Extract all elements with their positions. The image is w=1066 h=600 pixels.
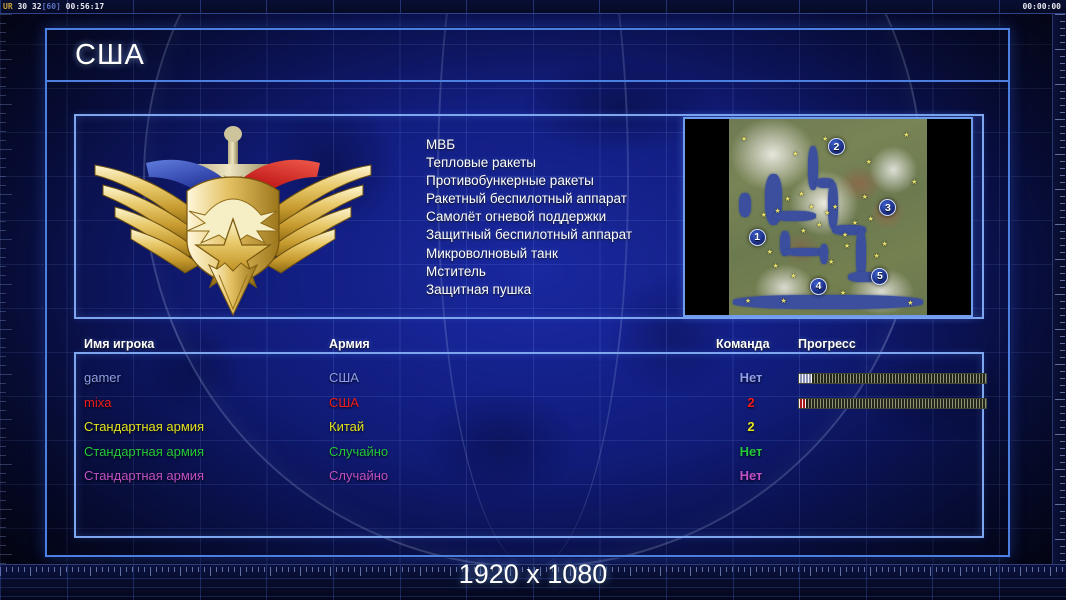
- ruler-tick: [0, 14, 12, 15]
- ruler-tick: [1060, 308, 1065, 309]
- main-frame: США: [45, 28, 1010, 557]
- ruler-tick: [0, 374, 12, 375]
- ruler-tick: [0, 95, 6, 96]
- ruler-tick: [0, 284, 12, 285]
- ruler-tick: [1060, 210, 1065, 211]
- hud-timer: 00:00:00: [1022, 1, 1061, 13]
- hud-performance-readout: UR 30 32[60] 00:56:17: [3, 1, 104, 13]
- minimap-resource-icon: ★: [907, 301, 913, 307]
- ruler-tick: [1060, 56, 1065, 57]
- ruler-tick: [0, 392, 6, 393]
- ruler-tick: [0, 347, 6, 348]
- minimap-resource-icon: ★: [800, 229, 806, 235]
- minimap-resource-icon: ★: [741, 137, 747, 143]
- minimap-resource-icon: ★: [874, 254, 880, 260]
- ruler-gridline: [932, 0, 933, 13]
- unit-list-item: Мститель: [426, 263, 632, 281]
- ruler-tick: [0, 320, 6, 321]
- ruler-tick: [0, 338, 6, 339]
- ruler-tick: [0, 176, 6, 177]
- ruler-tick: [1060, 28, 1065, 29]
- ruler-tick: [1060, 231, 1065, 232]
- ruler-tick: [1055, 259, 1065, 260]
- ruler-tick: [0, 365, 6, 366]
- progress-bar-track: [799, 399, 986, 408]
- ruler-gridline: [533, 0, 534, 13]
- minimap-start-position-5[interactable]: 5: [871, 268, 888, 285]
- ruler-tick: [0, 446, 6, 447]
- ruler-tick: [1060, 91, 1065, 92]
- ruler-tick: [1055, 189, 1065, 190]
- ruler-tick: [1060, 420, 1065, 421]
- ruler-tick: [0, 131, 6, 132]
- column-header-player-name: Имя игрока: [84, 337, 154, 351]
- progress-bar: [798, 373, 987, 384]
- minimap-start-position-3[interactable]: 3: [879, 199, 896, 216]
- ruler-tick: [0, 167, 6, 168]
- ruler-tick: [1060, 497, 1065, 498]
- ruler-tick: [0, 500, 6, 501]
- ruler-gridline: [999, 0, 1000, 13]
- player-team[interactable]: Нет: [716, 370, 786, 385]
- ruler-tick: [0, 302, 6, 303]
- minimap-resource-icon: ★: [792, 152, 798, 158]
- faction-info-panel: МВБТепловые ракетыПротивобункерные ракет…: [74, 114, 984, 319]
- ruler-tick: [0, 329, 12, 330]
- ruler-tick: [1060, 175, 1065, 176]
- ruler-tick: [1060, 140, 1065, 141]
- table-row[interactable]: Стандартная армияСлучайноНет: [76, 468, 982, 493]
- player-team[interactable]: Нет: [716, 444, 786, 459]
- ruler-tick: [1060, 490, 1065, 491]
- ruler-tick: [1060, 168, 1065, 169]
- unit-list-item: Микроволновый танк: [426, 245, 632, 263]
- ruler-tick: [0, 212, 6, 213]
- minimap-resource-icon: ★: [862, 195, 868, 201]
- ruler-tick: [0, 383, 6, 384]
- ruler-tick: [0, 464, 12, 465]
- ruler-tick: [0, 122, 6, 123]
- progress-bar-fill: [799, 374, 812, 383]
- ruler-gridline: [266, 0, 267, 13]
- ruler-tick: [0, 491, 6, 492]
- minimap-resource-icon: ★: [798, 192, 804, 198]
- ruler-tick: [1060, 357, 1065, 358]
- ruler-tick: [0, 68, 6, 69]
- ruler-tick: [1060, 98, 1065, 99]
- ruler-tick: [1060, 532, 1065, 533]
- ruler-tick: [1060, 238, 1065, 239]
- ruler-tick: [0, 50, 6, 51]
- resolution-overlay: 1920 x 1080: [0, 559, 1066, 590]
- ruler-tick: [1055, 224, 1065, 225]
- player-progress: [798, 373, 987, 384]
- ruler-tick: [1060, 343, 1065, 344]
- minimap-start-position-2[interactable]: 2: [828, 138, 845, 155]
- page-title: США: [75, 39, 145, 72]
- ruler-tick: [0, 239, 12, 240]
- unit-list-item: Ракетный беспилотный аппарат: [426, 190, 632, 208]
- minimap-resource-icon: ★: [816, 223, 822, 229]
- ruler-tick: [1055, 434, 1065, 435]
- minimap[interactable]: ★★★★★★★★★★★★★★★★★★★★★★★★★★★★★★12345: [683, 117, 973, 317]
- ruler-tick: [0, 437, 6, 438]
- unit-list-item: Самолёт огневой поддержки: [426, 208, 632, 226]
- ruler-top: [0, 0, 1066, 14]
- ruler-tick: [1060, 217, 1065, 218]
- ruler-tick: [1060, 273, 1065, 274]
- player-army[interactable]: Случайно: [329, 444, 388, 459]
- ruler-tick: [1060, 266, 1065, 267]
- ruler-tick: [1060, 42, 1065, 43]
- ruler-tick: [0, 410, 6, 411]
- ruler-tick: [1060, 427, 1065, 428]
- player-name[interactable]: Стандартная армия: [84, 444, 204, 459]
- ruler-tick: [0, 140, 6, 141]
- minimap-resource-icon: ★: [790, 274, 796, 280]
- ruler-tick: [1060, 70, 1065, 71]
- player-list-panel: Имя игрока Армия Команда Прогресс gamerС…: [74, 352, 984, 538]
- minimap-resource-icon: ★: [828, 260, 834, 266]
- ruler-gridline: [466, 0, 467, 13]
- unit-list-item: Защитный беспилотный аппарат: [426, 226, 632, 244]
- ruler-tick: [1060, 413, 1065, 414]
- player-name[interactable]: Стандартная армия: [84, 468, 204, 483]
- progress-bar-track: [799, 374, 986, 383]
- ruler-tick: [1055, 49, 1065, 50]
- ruler-tick: [0, 59, 12, 60]
- progress-bar: [798, 398, 987, 409]
- ruler-tick: [1055, 329, 1065, 330]
- ruler-tick: [1060, 21, 1065, 22]
- ruler-tick: [1060, 406, 1065, 407]
- ruler-tick: [1060, 462, 1065, 463]
- ruler-gridline: [666, 0, 667, 13]
- ruler-tick: [1060, 315, 1065, 316]
- column-header-army: Армия: [329, 337, 370, 351]
- ruler-tick: [1055, 14, 1065, 15]
- ruler-tick: [0, 104, 12, 105]
- table-row[interactable]: Стандартная армияСлучайноНет: [76, 444, 982, 469]
- player-progress: [798, 398, 987, 409]
- ruler-tick: [0, 455, 6, 456]
- ruler-tick: [1055, 399, 1065, 400]
- ruler-tick: [1055, 539, 1065, 540]
- ruler-tick: [1055, 84, 1065, 85]
- ruler-tick: [1060, 203, 1065, 204]
- minimap-resource-icon: ★: [784, 197, 790, 203]
- ruler-tick: [0, 473, 6, 474]
- ruler-tick: [0, 77, 6, 78]
- unit-list-item: Тепловые ракеты: [426, 154, 632, 172]
- minimap-start-position-4[interactable]: 4: [810, 278, 827, 295]
- ruler-tick: [0, 32, 6, 33]
- minimap-resource-icon: ★: [824, 211, 830, 217]
- ruler-tick: [1060, 518, 1065, 519]
- ruler-tick: [0, 41, 6, 42]
- column-header-progress: Прогресс: [798, 337, 856, 351]
- ruler-gridline: [0, 596, 1066, 597]
- table-row[interactable]: mixaСША2: [76, 395, 982, 420]
- player-team[interactable]: 2: [716, 419, 786, 434]
- player-army[interactable]: США: [329, 395, 359, 410]
- faction-unit-list: МВБТепловые ракетыПротивобункерные ракет…: [426, 136, 632, 299]
- ruler-tick: [0, 266, 6, 267]
- player-army[interactable]: США: [329, 370, 359, 385]
- hud-fps-label: UR: [3, 2, 13, 11]
- player-name[interactable]: mixa: [84, 395, 111, 410]
- minimap-resource-icon: ★: [866, 160, 872, 166]
- player-army[interactable]: Китай: [329, 419, 364, 434]
- hud-elapsed-time: 00:56:17: [66, 2, 105, 11]
- ruler-gridline: [333, 0, 334, 13]
- ruler-tick: [0, 401, 6, 402]
- unit-list-item: Защитная пушка: [426, 281, 632, 299]
- ruler-gridline: [400, 0, 401, 13]
- ruler-tick: [1055, 154, 1065, 155]
- ruler-tick: [0, 509, 12, 510]
- ruler-tick: [1060, 371, 1065, 372]
- minimap-start-position-1[interactable]: 1: [749, 229, 766, 246]
- table-row[interactable]: Стандартная армияКитай2: [76, 419, 982, 444]
- ruler-tick: [0, 419, 12, 420]
- ruler-tick: [0, 23, 6, 24]
- ruler-tick: [0, 113, 6, 114]
- ruler-tick: [1060, 112, 1065, 113]
- ruler-gridline: [0, 0, 1, 13]
- unit-list-item: МВБ: [426, 136, 632, 154]
- ruler-tick: [0, 545, 6, 546]
- ruler-tick: [0, 185, 6, 186]
- ruler-tick: [1060, 287, 1065, 288]
- ruler-tick: [1060, 483, 1065, 484]
- ruler-tick: [1060, 511, 1065, 512]
- ruler-tick: [1060, 546, 1065, 547]
- unit-list-item: Противобункерные ракеты: [426, 172, 632, 190]
- minimap-resource-icon: ★: [844, 244, 850, 250]
- ruler-gridline: [200, 0, 201, 13]
- ruler-tick: [1060, 322, 1065, 323]
- ruler-right: [1052, 14, 1066, 572]
- minimap-resource-icon: ★: [745, 299, 751, 305]
- ruler-tick: [0, 428, 6, 429]
- minimap-resource-icon: ★: [761, 213, 767, 219]
- ruler-gridline: [799, 0, 800, 13]
- player-team[interactable]: Нет: [716, 468, 786, 483]
- table-row[interactable]: gamerСШАНет: [76, 370, 982, 395]
- minimap-resource-icon: ★: [780, 299, 786, 305]
- minimap-resource-icon: ★: [767, 250, 773, 256]
- minimap-resource-icon: ★: [840, 291, 846, 297]
- ruler-tick: [1060, 441, 1065, 442]
- ruler-tick: [0, 221, 6, 222]
- minimap-resource-icon: ★: [852, 221, 858, 227]
- ruler-tick: [1060, 301, 1065, 302]
- player-army[interactable]: Случайно: [329, 468, 388, 483]
- ruler-tick: [1055, 504, 1065, 505]
- ruler-tick: [1060, 182, 1065, 183]
- ruler-tick: [0, 311, 6, 312]
- ruler-tick: [0, 275, 6, 276]
- ruler-tick: [1060, 126, 1065, 127]
- minimap-resource-icon: ★: [822, 137, 828, 143]
- ruler-tick: [1060, 133, 1065, 134]
- minimap-resource-icon: ★: [911, 180, 917, 186]
- ruler-tick: [1060, 77, 1065, 78]
- minimap-letterbox-left: [685, 119, 729, 315]
- ruler-tick: [1060, 525, 1065, 526]
- progress-bar-fill: [799, 399, 806, 408]
- ruler-tick: [0, 203, 6, 204]
- hud-fps-cap: [60]: [42, 2, 61, 11]
- player-name[interactable]: gamer: [84, 370, 121, 385]
- ruler-tick: [1060, 105, 1065, 106]
- ruler-tick: [0, 482, 6, 483]
- ruler-gridline: [866, 0, 867, 13]
- ruler-tick: [0, 356, 6, 357]
- player-name[interactable]: Стандартная армия: [84, 419, 204, 434]
- column-header-team: Команда: [716, 337, 770, 351]
- ruler-tick: [1060, 35, 1065, 36]
- minimap-resource-icon: ★: [808, 205, 814, 211]
- minimap-letterbox-right: [927, 119, 971, 315]
- ruler-tick: [1060, 63, 1065, 64]
- ruler-tick: [1060, 161, 1065, 162]
- ruler-tick: [1060, 336, 1065, 337]
- minimap-resource-icon: ★: [832, 205, 838, 211]
- minimap-resource-icon: ★: [881, 242, 887, 248]
- ruler-tick: [1055, 119, 1065, 120]
- ruler-tick: [1060, 350, 1065, 351]
- minimap-terrain: ★★★★★★★★★★★★★★★★★★★★★★★★★★★★★★12345: [729, 119, 927, 315]
- ruler-tick: [1055, 364, 1065, 365]
- ruler-tick: [0, 194, 12, 195]
- ruler-tick: [1060, 280, 1065, 281]
- ruler-tick: [1060, 553, 1065, 554]
- ruler-tick: [1060, 455, 1065, 456]
- hud-fps-value: 30 32: [17, 2, 41, 11]
- ruler-tick: [0, 554, 12, 555]
- ruler-tick: [0, 230, 6, 231]
- app-stage: UR 30 32[60] 00:56:17 00:00:00 США: [0, 0, 1066, 600]
- minimap-resource-icon: ★: [903, 133, 909, 139]
- ruler-tick: [1060, 448, 1065, 449]
- usa-eagle-emblem-icon: [83, 115, 383, 320]
- ruler-tick: [1060, 378, 1065, 379]
- ruler-tick: [1060, 147, 1065, 148]
- ruler-tick: [1060, 476, 1065, 477]
- ruler-tick: [0, 518, 6, 519]
- ruler-tick: [1055, 469, 1065, 470]
- minimap-resource-icon: ★: [775, 209, 781, 215]
- ruler-left: [0, 14, 20, 564]
- ruler-tick: [0, 149, 12, 150]
- ruler-tick: [0, 158, 6, 159]
- title-bar: США: [47, 30, 1008, 82]
- minimap-resource-icon: ★: [842, 233, 848, 239]
- ruler-tick: [1055, 294, 1065, 295]
- ruler-tick: [1060, 252, 1065, 253]
- ruler-gridline: [733, 0, 734, 13]
- ruler-tick: [0, 293, 6, 294]
- ruler-tick: [1060, 196, 1065, 197]
- ruler-tick: [1060, 245, 1065, 246]
- ruler-tick: [1060, 385, 1065, 386]
- ruler-tick: [0, 248, 6, 249]
- ruler-gridline: [599, 0, 600, 13]
- ruler-tick: [0, 86, 6, 87]
- ruler-tick: [0, 527, 6, 528]
- ruler-gridline: [133, 0, 134, 13]
- ruler-tick: [0, 257, 6, 258]
- minimap-resource-icon: ★: [773, 264, 779, 270]
- ruler-tick: [1060, 392, 1065, 393]
- player-team[interactable]: 2: [716, 395, 786, 410]
- ruler-tick: [0, 536, 6, 537]
- minimap-resource-icon: ★: [868, 217, 874, 223]
